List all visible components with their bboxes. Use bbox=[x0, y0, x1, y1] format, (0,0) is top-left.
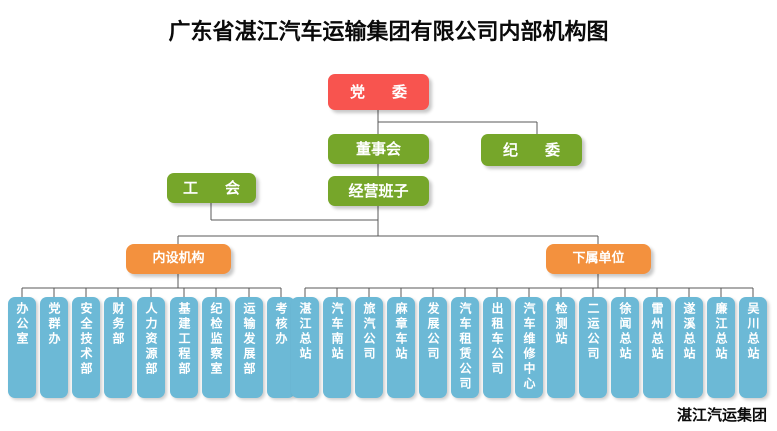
leaf-label: 发展公司 bbox=[427, 302, 439, 362]
leaf-label: 办公室 bbox=[16, 302, 28, 347]
leaf-label: 雷州总站 bbox=[651, 302, 663, 362]
page-title: 广东省湛江汽车运输集团有限公司内部机构图 bbox=[0, 14, 777, 46]
watermark: 湛江汽运集团 bbox=[677, 404, 767, 425]
node-management-team[interactable]: 经营班子 bbox=[328, 176, 429, 206]
leaf-subordinate-unit[interactable]: 汽车南站 bbox=[323, 297, 351, 398]
leaf-label: 运输发展部 bbox=[243, 302, 255, 377]
leaf-subordinate-unit[interactable]: 吴川总站 bbox=[739, 297, 767, 398]
leaf-internal-department[interactable]: 基建工程部 bbox=[170, 297, 198, 398]
leaf-label: 检测站 bbox=[555, 302, 567, 347]
node-party-committee[interactable]: 党 委 bbox=[328, 74, 429, 110]
node-subordinate-units[interactable]: 下属单位 bbox=[546, 244, 651, 274]
leaf-subordinate-unit[interactable]: 遂溪总站 bbox=[675, 297, 703, 398]
leaf-label: 旅汽公司 bbox=[363, 302, 375, 362]
leaf-label: 湛江总站 bbox=[299, 302, 311, 362]
leaf-subordinate-unit[interactable]: 旅汽公司 bbox=[355, 297, 383, 398]
leaf-label: 汽车南站 bbox=[331, 302, 343, 362]
leaf-subordinate-unit[interactable]: 徐闻总站 bbox=[611, 297, 639, 398]
leaf-label: 遂溪总站 bbox=[683, 302, 695, 362]
leaf-internal-department[interactable]: 安全技术部 bbox=[72, 297, 100, 398]
leaf-subordinate-unit[interactable]: 汽车维修中心 bbox=[515, 297, 543, 398]
leaf-label: 安全技术部 bbox=[80, 302, 92, 377]
org-chart-canvas: 广东省湛江汽车运输集团有限公司内部机构图 党 委 董事会 纪 委 工 会 经营班… bbox=[0, 0, 777, 431]
node-discipline-committee[interactable]: 纪 委 bbox=[481, 134, 582, 166]
leaf-subordinate-unit[interactable]: 廉江总站 bbox=[707, 297, 735, 398]
leaf-subordinate-unit[interactable]: 汽车租赁公司 bbox=[451, 297, 479, 398]
leaf-subordinate-unit[interactable]: 发展公司 bbox=[419, 297, 447, 398]
leaf-subordinate-unit[interactable]: 检测站 bbox=[547, 297, 575, 398]
leaf-label: 汽车维修中心 bbox=[523, 302, 535, 392]
leaf-label: 财务部 bbox=[112, 302, 124, 347]
node-internal-departments[interactable]: 内设机构 bbox=[126, 244, 231, 274]
leaf-label: 考核办 bbox=[275, 302, 287, 347]
leaf-subordinate-unit[interactable]: 麻章车站 bbox=[387, 297, 415, 398]
leaf-subordinate-unit[interactable]: 二运公司 bbox=[579, 297, 607, 398]
node-labor-union[interactable]: 工 会 bbox=[167, 173, 256, 203]
leaf-label: 党群办 bbox=[48, 302, 60, 347]
leaf-internal-department[interactable]: 纪检监察室 bbox=[202, 297, 230, 398]
leaf-label: 二运公司 bbox=[587, 302, 599, 362]
leaf-label: 吴川总站 bbox=[747, 302, 759, 362]
leaf-label: 纪检监察室 bbox=[210, 302, 222, 377]
leaf-label: 基建工程部 bbox=[178, 302, 190, 377]
leaf-label: 人力资源部 bbox=[145, 302, 157, 377]
leaf-label: 廉江总站 bbox=[715, 302, 727, 362]
leaf-subordinate-unit[interactable]: 出租车公司 bbox=[483, 297, 511, 398]
leaf-internal-department[interactable]: 财务部 bbox=[104, 297, 132, 398]
node-board-of-directors[interactable]: 董事会 bbox=[328, 134, 429, 164]
leaf-internal-department[interactable]: 运输发展部 bbox=[235, 297, 263, 398]
leaf-subordinate-unit[interactable]: 湛江总站 bbox=[291, 297, 319, 398]
leaf-internal-department[interactable]: 党群办 bbox=[40, 297, 68, 398]
leaf-label: 汽车租赁公司 bbox=[459, 302, 471, 392]
leaf-label: 麻章车站 bbox=[395, 302, 407, 362]
leaf-subordinate-unit[interactable]: 雷州总站 bbox=[643, 297, 671, 398]
leaf-internal-department[interactable]: 办公室 bbox=[8, 297, 36, 398]
leaf-label: 出租车公司 bbox=[491, 302, 503, 377]
leaf-label: 徐闻总站 bbox=[619, 302, 631, 362]
leaf-internal-department[interactable]: 人力资源部 bbox=[137, 297, 165, 398]
